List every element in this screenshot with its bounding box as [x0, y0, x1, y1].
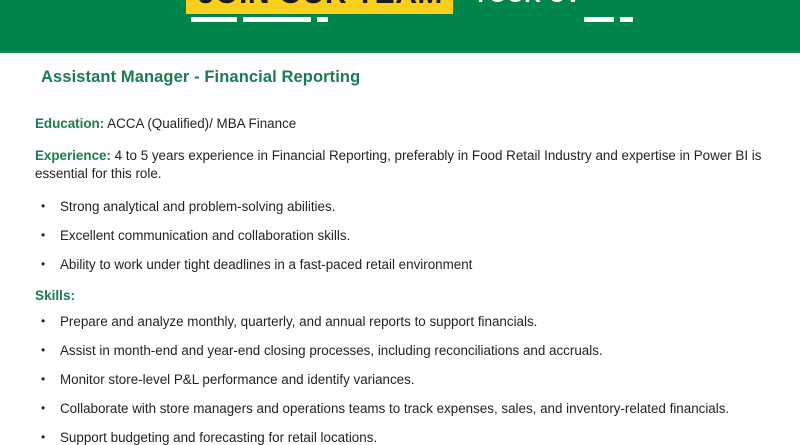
banner-headline-highlight: JOIN OUR TEAM — [186, 0, 453, 14]
list-item: Assist in month-end and year-end closing… — [41, 342, 800, 360]
list-item: Monitor store-level P&L performance and … — [41, 371, 800, 389]
job-posting-page: JOIN OUR TEAM YOUR CV Assistant Manager … — [0, 0, 800, 445]
skills-list: Prepare and analyze monthly, quarterly, … — [0, 313, 800, 445]
banner-headline-group: JOIN OUR TEAM YOUR CV — [186, 0, 581, 14]
experience-label: Experience: — [35, 148, 111, 163]
list-item: Collaborate with store managers and oper… — [41, 400, 800, 418]
education-value: ACCA (Qualified)/ MBA Finance — [104, 116, 296, 131]
banner-dash-decoration-right — [584, 17, 633, 22]
list-item: Strong analytical and problem-solving ab… — [41, 198, 800, 216]
skills-heading: Skills: — [35, 288, 800, 303]
page-title: Assistant Manager - Financial Reporting — [41, 68, 800, 87]
dash-icon — [317, 17, 328, 22]
banner-headline-secondary: YOUR CV — [453, 0, 581, 14]
dash-icon — [620, 17, 633, 22]
banner-dash-decoration-left — [191, 17, 328, 22]
experience-value: 4 to 5 years experience in Financial Rep… — [35, 148, 761, 182]
education-line: Education: ACCA (Qualified)/ MBA Finance — [35, 115, 800, 134]
dash-icon — [191, 17, 237, 22]
dash-icon — [584, 17, 614, 22]
list-item: Excellent communication and collaboratio… — [41, 227, 800, 245]
list-item: Prepare and analyze monthly, quarterly, … — [41, 313, 800, 331]
list-item: Support budgeting and forecasting for re… — [41, 429, 800, 445]
posting-content: Assistant Manager - Financial Reporting … — [0, 53, 800, 445]
list-item: Ability to work under tight deadlines in… — [41, 256, 800, 274]
dash-icon — [243, 17, 311, 22]
education-label: Education: — [35, 116, 104, 131]
header-banner: JOIN OUR TEAM YOUR CV — [0, 0, 800, 53]
requirements-list: Strong analytical and problem-solving ab… — [0, 198, 800, 274]
experience-line: Experience: 4 to 5 years experience in F… — [35, 147, 800, 184]
